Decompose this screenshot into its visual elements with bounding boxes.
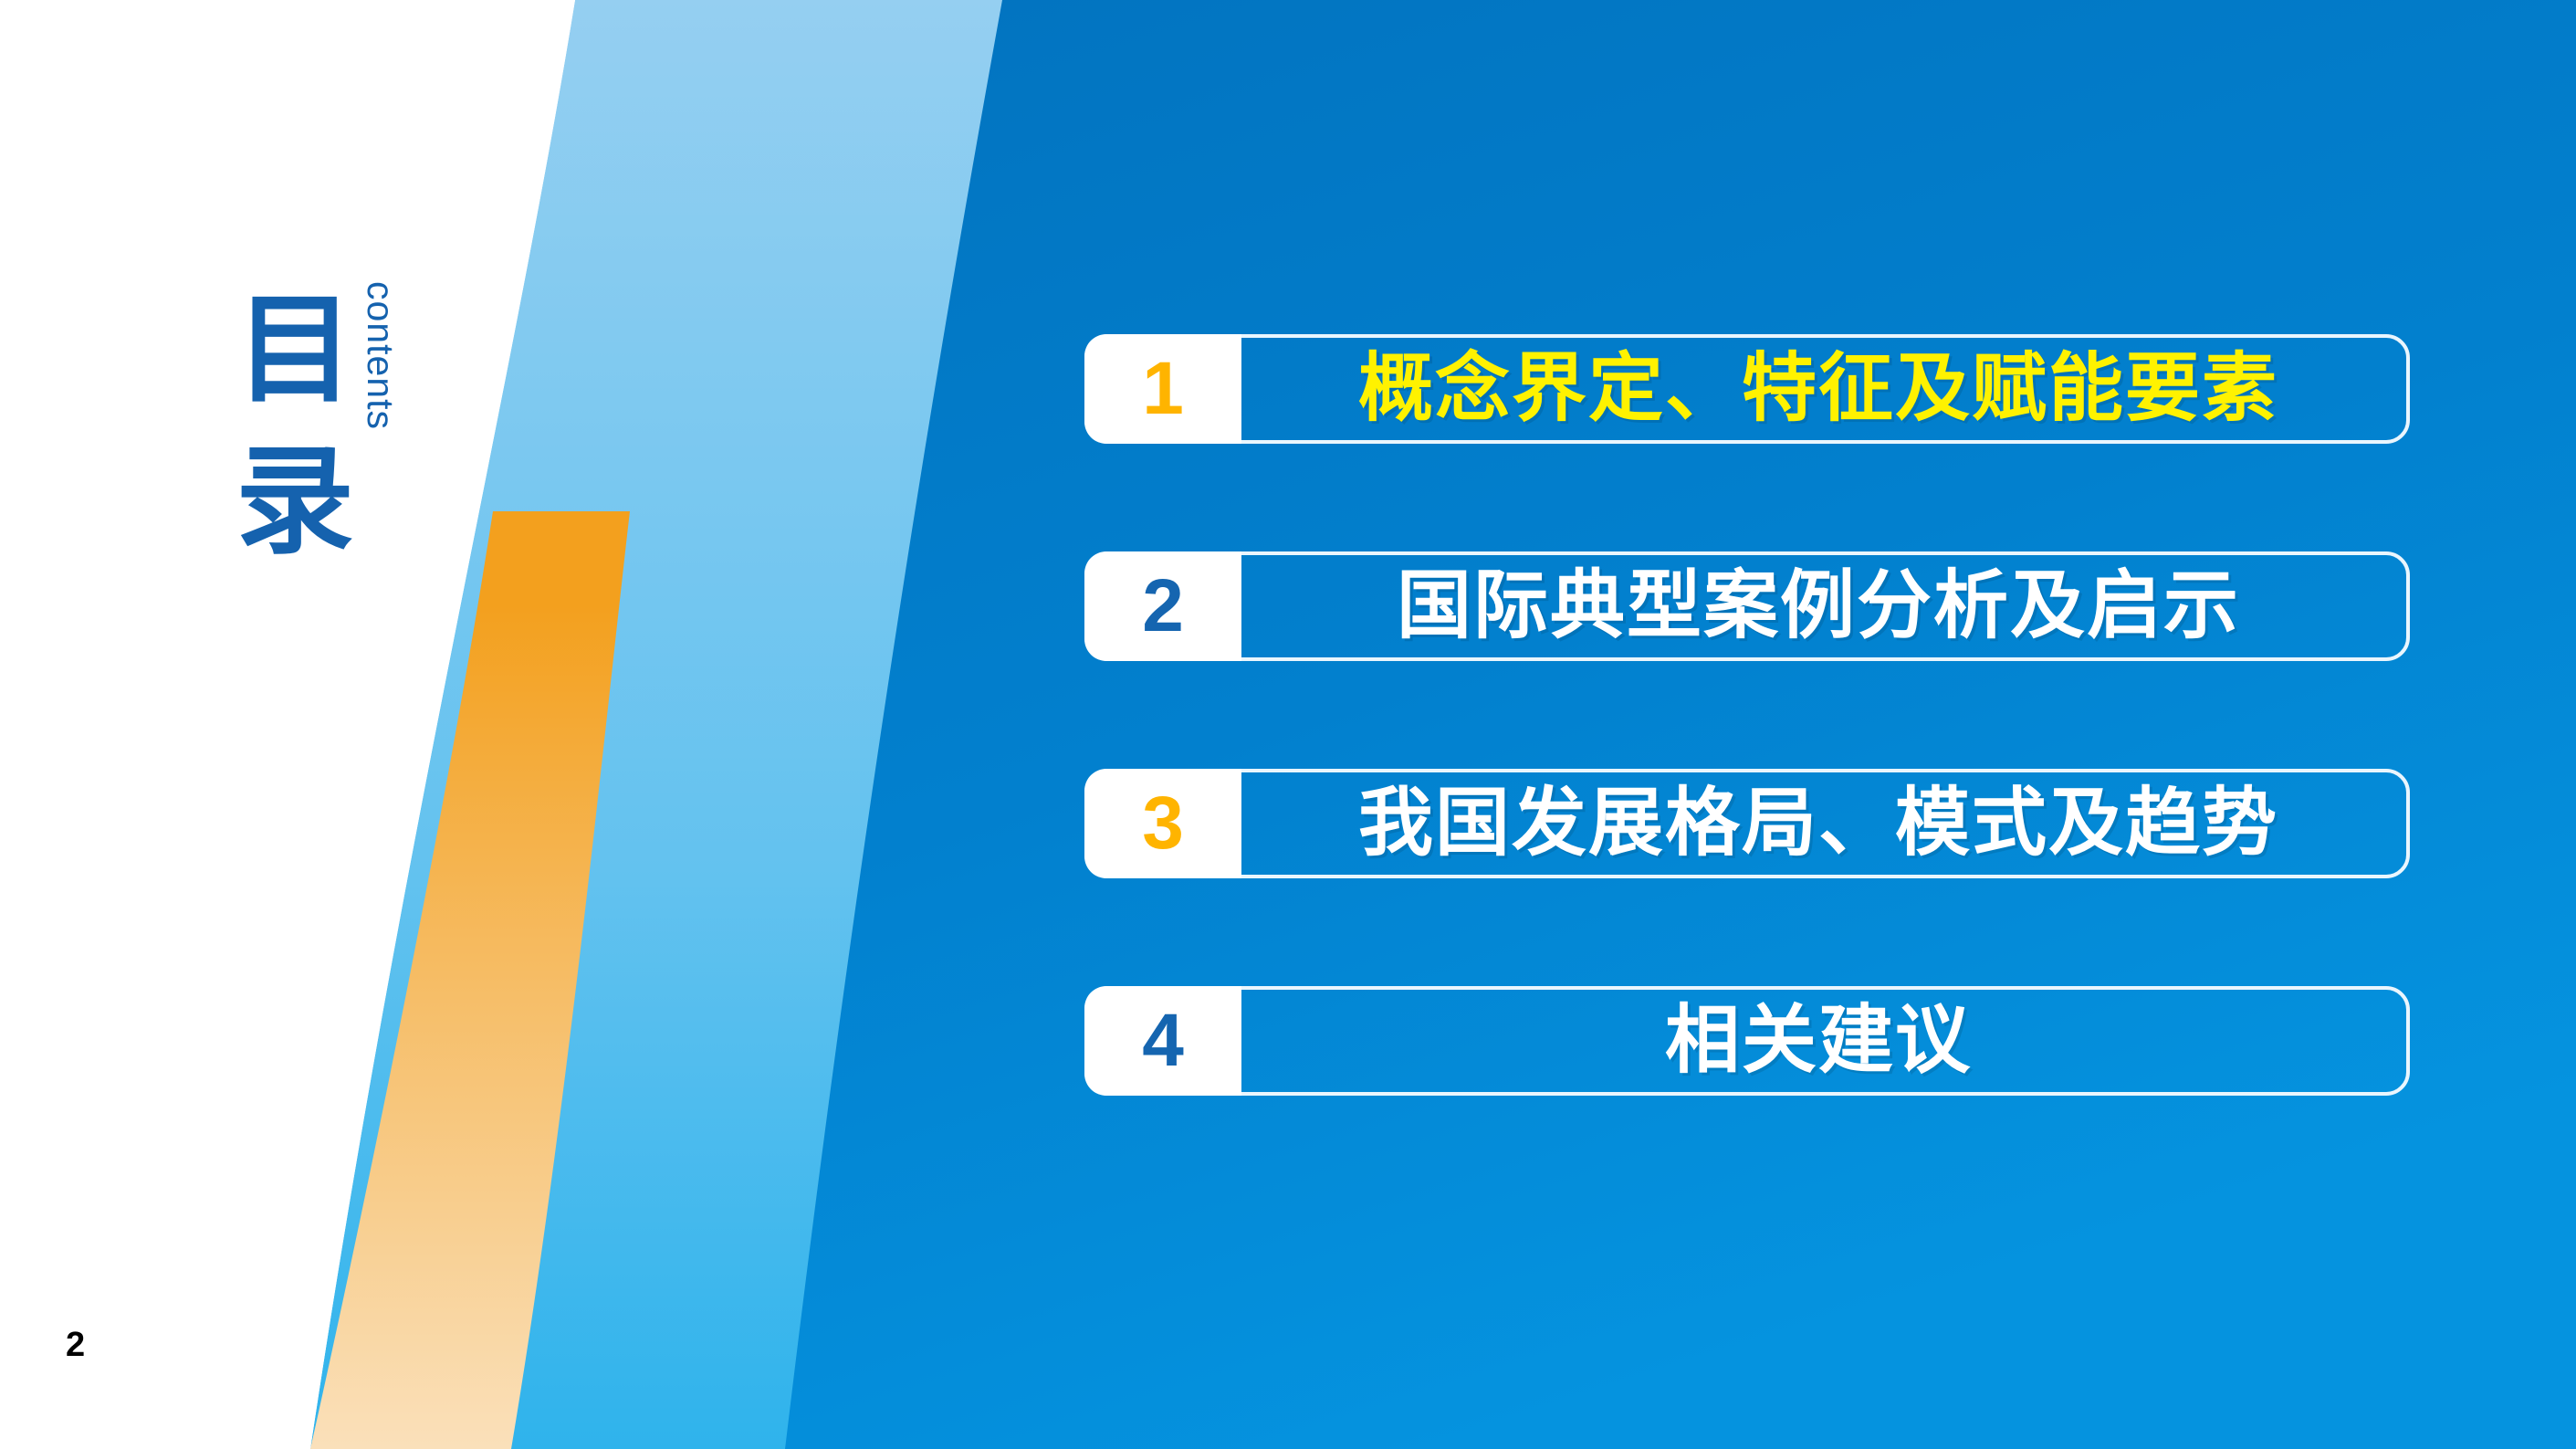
toc-item-3-number: 3	[1142, 786, 1184, 861]
title-char-mu: 目	[208, 274, 382, 425]
toc-item-2[interactable]: 2 国际典型案例分析及启示	[1084, 551, 2410, 661]
toc-item-4[interactable]: 4 相关建议	[1084, 986, 2410, 1096]
toc-item-1-label: 概念界定、特征及赋能要素	[1241, 334, 2410, 444]
toc-item-4-number-box: 4	[1084, 986, 1241, 1096]
toc-item-1-number-box: 1	[1084, 334, 1241, 444]
toc-item-4-number: 4	[1142, 1003, 1184, 1078]
presentation-slide: 目 录 contents 1 概念界定、特征及赋能要素 2 国际典型案例分析及启…	[0, 0, 2576, 1449]
toc-item-4-label: 相关建议	[1241, 986, 2410, 1096]
toc-item-2-number-box: 2	[1084, 551, 1241, 661]
toc-item-1-number: 1	[1142, 352, 1184, 426]
toc-item-3-label: 我国发展格局、模式及趋势	[1241, 769, 2410, 878]
toc-item-3[interactable]: 3 我国发展格局、模式及趋势	[1084, 769, 2410, 878]
toc-item-3-number-box: 3	[1084, 769, 1241, 878]
page-title: 目 录 contents	[208, 274, 573, 657]
title-chinese: 目 录	[208, 274, 382, 578]
toc-item-1[interactable]: 1 概念界定、特征及赋能要素	[1084, 334, 2410, 444]
toc-item-2-number: 2	[1142, 569, 1184, 644]
table-of-contents: 1 概念界定、特征及赋能要素 2 国际典型案例分析及启示 3 我国发展格局、模式…	[1084, 334, 2410, 1096]
toc-item-2-label: 国际典型案例分析及启示	[1241, 551, 2410, 661]
title-char-lu: 录	[208, 425, 382, 577]
page-number: 2	[66, 1326, 85, 1365]
title-english: contents	[359, 281, 402, 430]
